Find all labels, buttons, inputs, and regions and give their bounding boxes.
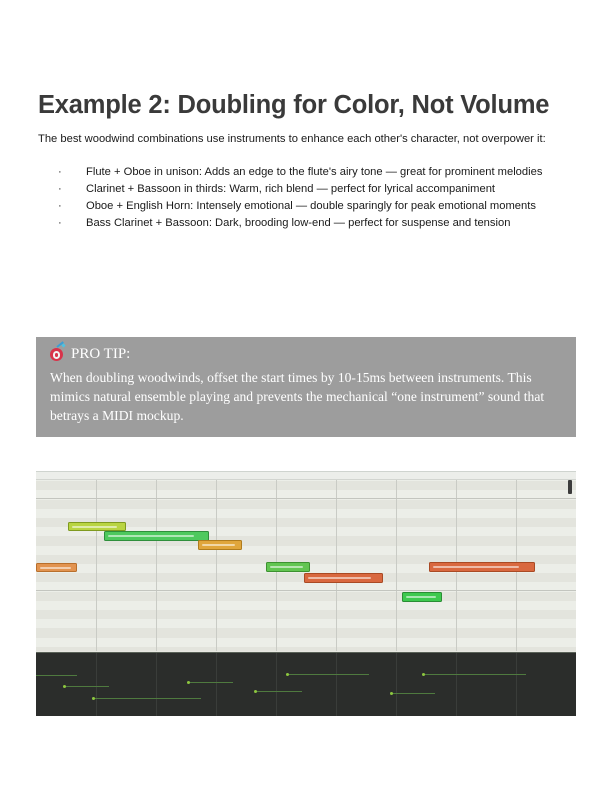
pro-tip-callout: PRO TIP: When doubling woodwinds, offset… <box>36 337 576 437</box>
velocity-handle-dot[interactable] <box>187 681 190 684</box>
vertical-scrollbar-thumb[interactable] <box>568 480 572 494</box>
velocity-handle-dot[interactable] <box>63 685 66 688</box>
document-page: Example 2: Doubling for Color, Not Volum… <box>0 0 612 792</box>
octave-divider-line <box>36 590 576 591</box>
bullet-marker: · <box>38 164 78 181</box>
bullet-marker: · <box>38 181 78 198</box>
intro-paragraph: The best woodwind combinations use instr… <box>38 131 578 148</box>
bar-line <box>456 653 457 716</box>
velocity-line[interactable] <box>188 682 233 683</box>
octave-divider-line <box>36 498 576 499</box>
list-item: · Oboe + English Horn: Intensely emotion… <box>38 198 583 215</box>
page-title: Example 2: Doubling for Color, Not Volum… <box>38 91 578 120</box>
bar-line <box>156 653 157 716</box>
list-item: · Bass Clarinet + Bassoon: Dark, broodin… <box>38 215 583 232</box>
midi-note-block[interactable] <box>304 573 383 583</box>
velocity-line[interactable] <box>255 691 302 692</box>
pro-tip-body-text: When doubling woodwinds, offset the star… <box>50 368 562 426</box>
midi-note-block[interactable] <box>429 562 535 572</box>
velocity-handle-dot[interactable] <box>390 692 393 695</box>
list-item-label: Oboe + English Horn: Intensely emotional… <box>78 198 583 215</box>
midi-note-block[interactable] <box>266 562 310 572</box>
bar-line <box>216 653 217 716</box>
velocity-handle-dot[interactable] <box>92 697 95 700</box>
velocity-line[interactable] <box>423 674 526 675</box>
bullet-marker: · <box>38 198 78 215</box>
velocity-handle-dot[interactable] <box>286 673 289 676</box>
pro-tip-heading-label: PRO TIP: <box>71 345 130 365</box>
piano-roll-grid <box>36 472 576 651</box>
velocity-handle-dot[interactable] <box>422 673 425 676</box>
bar-line <box>516 653 517 716</box>
velocity-automation-lane <box>36 652 576 716</box>
midi-note-block[interactable] <box>402 592 442 602</box>
bar-line <box>396 653 397 716</box>
midi-note-block[interactable] <box>36 563 77 572</box>
midi-note-block[interactable] <box>198 540 242 550</box>
pro-tip-header: PRO TIP: <box>50 345 562 365</box>
list-item-label: Bass Clarinet + Bassoon: Dark, brooding … <box>78 215 583 232</box>
bar-line <box>276 653 277 716</box>
bar-line <box>336 653 337 716</box>
woodwind-combination-list: · Flute + Oboe in unison: Adds an edge t… <box>38 164 583 232</box>
bullet-marker: · <box>38 215 78 232</box>
velocity-handle-dot[interactable] <box>254 690 257 693</box>
midi-note-block[interactable] <box>104 531 209 541</box>
velocity-line[interactable] <box>391 693 435 694</box>
dartboard-icon <box>50 347 65 362</box>
list-item: · Clarinet + Bassoon in thirds: Warm, ri… <box>38 181 583 198</box>
midi-note-block[interactable] <box>68 522 126 531</box>
velocity-line[interactable] <box>287 674 369 675</box>
velocity-line[interactable] <box>36 675 77 676</box>
velocity-line[interactable] <box>93 698 201 699</box>
list-item: · Flute + Oboe in unison: Adds an edge t… <box>38 164 583 181</box>
bar-line <box>96 653 97 716</box>
midi-piano-roll-screenshot <box>36 471 576 716</box>
piano-roll-toolbar-strip <box>36 472 576 480</box>
list-item-label: Flute + Oboe in unison: Adds an edge to … <box>78 164 583 181</box>
list-item-label: Clarinet + Bassoon in thirds: Warm, rich… <box>78 181 583 198</box>
velocity-line[interactable] <box>64 686 109 687</box>
